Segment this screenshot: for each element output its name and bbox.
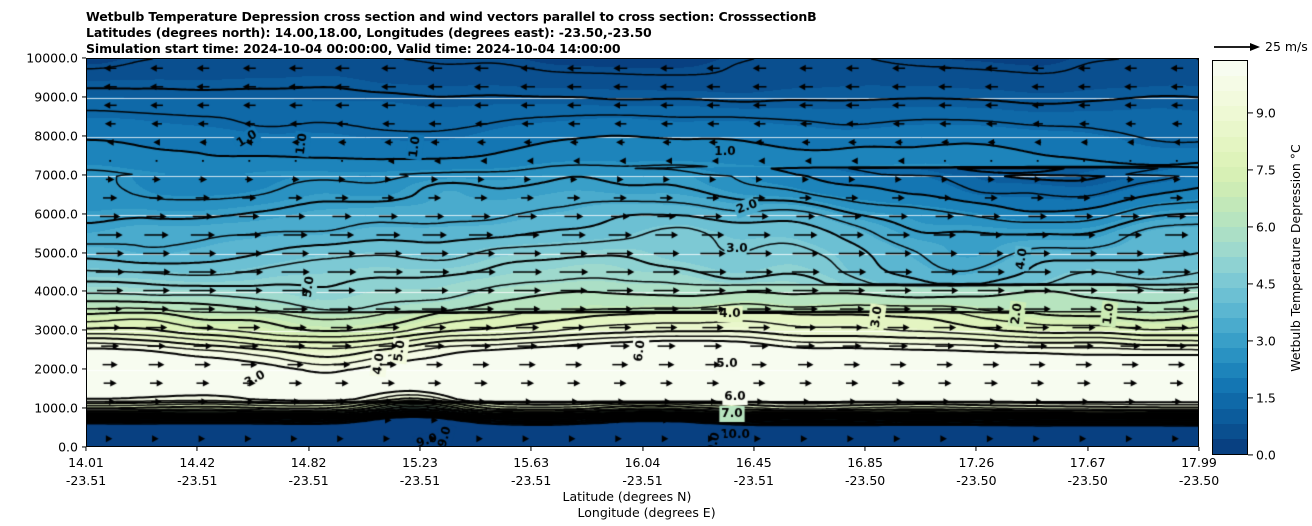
x-axis-tick-label-latitude: 17.67 <box>1070 455 1106 470</box>
colorbar-segment <box>1213 76 1247 91</box>
colorbar-segment <box>1213 333 1247 348</box>
x-axis-label-longitude: Longitude (degrees E) <box>578 505 716 520</box>
x-axis-tick-label-longitude: -23.51 <box>511 473 551 488</box>
wind-arrow-icon <box>1212 40 1262 54</box>
colorbar-segment <box>1213 137 1247 152</box>
figure-title-line2: Latitudes (degrees north): 14.00,18.00, … <box>86 25 652 40</box>
y-axis-tick-mark <box>82 96 86 97</box>
colorbar-segment <box>1213 257 1247 272</box>
x-axis-tick-label-longitude: -23.50 <box>1179 473 1219 488</box>
y-axis-tick-mark <box>82 135 86 136</box>
colorbar-segment <box>1213 303 1247 318</box>
y-axis-tick-mark <box>82 408 86 409</box>
colorbar-segment <box>1213 167 1247 182</box>
colorbar-segment <box>1213 288 1247 303</box>
y-axis-tick-mark <box>82 330 86 331</box>
colorbar-segment <box>1213 212 1247 227</box>
colorbar-tick-mark <box>1248 113 1253 114</box>
colorbar-tick-mark <box>1248 397 1253 398</box>
colorbar-segment <box>1213 273 1247 288</box>
x-axis-tick-label-latitude: 16.04 <box>625 455 661 470</box>
colorbar-tick-mark <box>1248 454 1253 455</box>
plot-area <box>86 58 1199 447</box>
chart-figure: Wetbulb Temperature Depression cross sec… <box>0 0 1312 526</box>
x-axis-tick-label-latitude: 17.99 <box>1181 455 1217 470</box>
x-axis-label-latitude: Latitude (degrees N) <box>563 489 692 504</box>
x-axis-tick-label-longitude: -23.50 <box>956 473 996 488</box>
x-axis-tick-mark <box>865 447 866 451</box>
colorbar-label: Wetbulb Temperature Depression °C <box>1288 144 1303 371</box>
colorbar-segment <box>1213 348 1247 363</box>
colorbar-tick-label: 4.5 <box>1256 277 1276 292</box>
x-axis-tick-mark <box>753 447 754 451</box>
x-axis-tick-label-longitude: -23.50 <box>1068 473 1108 488</box>
y-axis-tick-label: 2000.0 <box>34 362 78 377</box>
colorbar-segment <box>1213 61 1247 76</box>
x-axis-tick-label-longitude: -23.51 <box>66 473 106 488</box>
colorbar-tick-label: 7.5 <box>1256 163 1276 178</box>
colorbar-segment <box>1213 182 1247 197</box>
x-axis-tick-mark <box>308 447 309 451</box>
y-axis-tick-label: 3000.0 <box>34 323 78 338</box>
y-axis-tick-label: 0.0 <box>58 440 78 455</box>
y-axis-tick-mark <box>82 369 86 370</box>
x-axis-tick-label-latitude: 16.85 <box>847 455 883 470</box>
x-axis-tick-label-longitude: -23.51 <box>177 473 217 488</box>
colorbar-tick-label: 9.0 <box>1256 106 1276 121</box>
x-axis-tick-mark <box>197 447 198 451</box>
y-axis-tick-mark <box>82 252 86 253</box>
figure-title-line3: Simulation start time: 2024-10-04 00:00:… <box>86 41 620 56</box>
y-axis-tick-mark <box>82 57 86 58</box>
y-axis-tick-label: 10000.0 <box>26 51 78 66</box>
x-axis-tick-mark <box>976 447 977 451</box>
x-axis-tick-label-longitude: -23.51 <box>400 473 440 488</box>
wind-key-label: 25 m/s <box>1265 39 1308 54</box>
x-axis-tick-label-latitude: 14.42 <box>179 455 215 470</box>
x-axis-tick-label-longitude: -23.51 <box>288 473 328 488</box>
x-axis-tick-label-latitude: 17.26 <box>958 455 994 470</box>
y-axis-tick-label: 9000.0 <box>34 89 78 104</box>
y-axis-tick-label: 6000.0 <box>34 206 78 221</box>
colorbar-segment <box>1213 409 1247 424</box>
x-axis-tick-label-latitude: 14.01 <box>68 455 104 470</box>
y-axis-tick-mark <box>82 213 86 214</box>
x-axis-tick-mark <box>1087 447 1088 451</box>
colorbar-segment <box>1213 242 1247 257</box>
colorbar-tick-mark <box>1248 227 1253 228</box>
colorbar-tick-label: 3.0 <box>1256 334 1276 349</box>
colorbar-segment <box>1213 439 1247 454</box>
wind-vector-key: 25 m/s <box>1212 38 1312 58</box>
colorbar-segment <box>1213 227 1247 242</box>
x-axis-tick-mark <box>531 447 532 451</box>
x-axis-tick-mark <box>85 447 86 451</box>
figure-title-line1: Wetbulb Temperature Depression cross sec… <box>86 9 817 24</box>
colorbar-segment <box>1213 197 1247 212</box>
x-axis-tick-label-latitude: 14.82 <box>291 455 327 470</box>
colorbar-tick-label: 1.5 <box>1256 391 1276 406</box>
colorbar-segment <box>1213 318 1247 333</box>
y-axis-tick-mark <box>82 291 86 292</box>
x-axis-tick-mark <box>419 447 420 451</box>
y-axis-tick-label: 5000.0 <box>34 245 78 260</box>
x-axis-tick-label-latitude: 15.63 <box>513 455 549 470</box>
x-axis-tick-mark <box>1198 447 1199 451</box>
y-axis-tick-label: 8000.0 <box>34 128 78 143</box>
y-axis-tick-mark <box>82 174 86 175</box>
colorbar-segment <box>1213 152 1247 167</box>
colorbar <box>1212 60 1248 455</box>
contour-canvas <box>87 59 1199 447</box>
colorbar-segment <box>1213 121 1247 136</box>
x-axis-tick-label-longitude: -23.51 <box>734 473 774 488</box>
x-axis-tick-label-latitude: 15.23 <box>402 455 438 470</box>
colorbar-tick-mark <box>1248 283 1253 284</box>
colorbar-segment <box>1213 424 1247 439</box>
colorbar-tick-label: 0.0 <box>1256 448 1276 463</box>
colorbar-segment <box>1213 91 1247 106</box>
colorbar-tick-mark <box>1248 170 1253 171</box>
x-axis-tick-mark <box>642 447 643 451</box>
colorbar-segment <box>1213 378 1247 393</box>
y-axis-tick-label: 7000.0 <box>34 167 78 182</box>
colorbar-tick-label: 6.0 <box>1256 220 1276 235</box>
colorbar-segment <box>1213 106 1247 121</box>
y-axis-tick-label: 1000.0 <box>34 401 78 416</box>
colorbar-segment <box>1213 363 1247 378</box>
x-axis-tick-label-longitude: -23.51 <box>622 473 662 488</box>
x-axis-tick-label-longitude: -23.50 <box>845 473 885 488</box>
x-axis-tick-label-latitude: 16.45 <box>736 455 772 470</box>
colorbar-tick-mark <box>1248 340 1253 341</box>
y-axis-tick-label: 4000.0 <box>34 284 78 299</box>
colorbar-segment <box>1213 393 1247 408</box>
